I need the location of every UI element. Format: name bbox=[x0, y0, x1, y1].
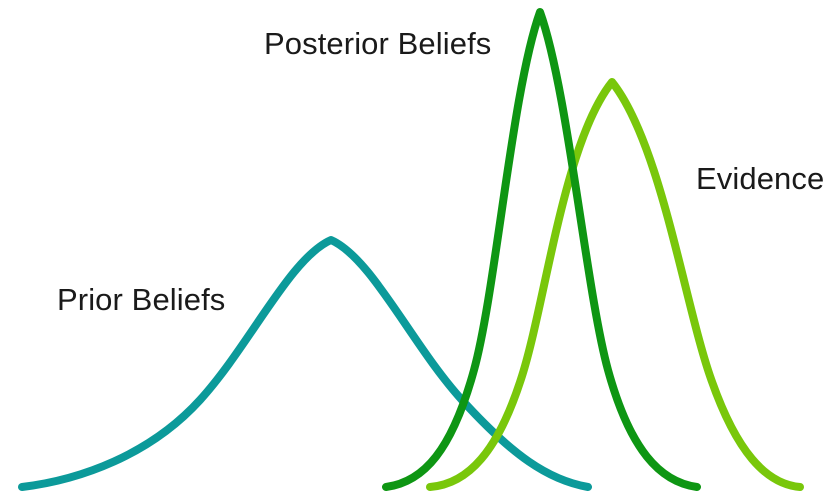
prior-beliefs-curve bbox=[22, 240, 588, 487]
prior-beliefs-label: Prior Beliefs bbox=[57, 284, 225, 315]
evidence-label: Evidence bbox=[696, 163, 824, 194]
bayesian-curves-figure: Prior Beliefs Posterior Beliefs Evidence bbox=[0, 0, 828, 496]
posterior-beliefs-curve bbox=[386, 12, 697, 487]
distribution-curves-svg bbox=[0, 0, 828, 496]
posterior-beliefs-label: Posterior Beliefs bbox=[264, 28, 491, 59]
